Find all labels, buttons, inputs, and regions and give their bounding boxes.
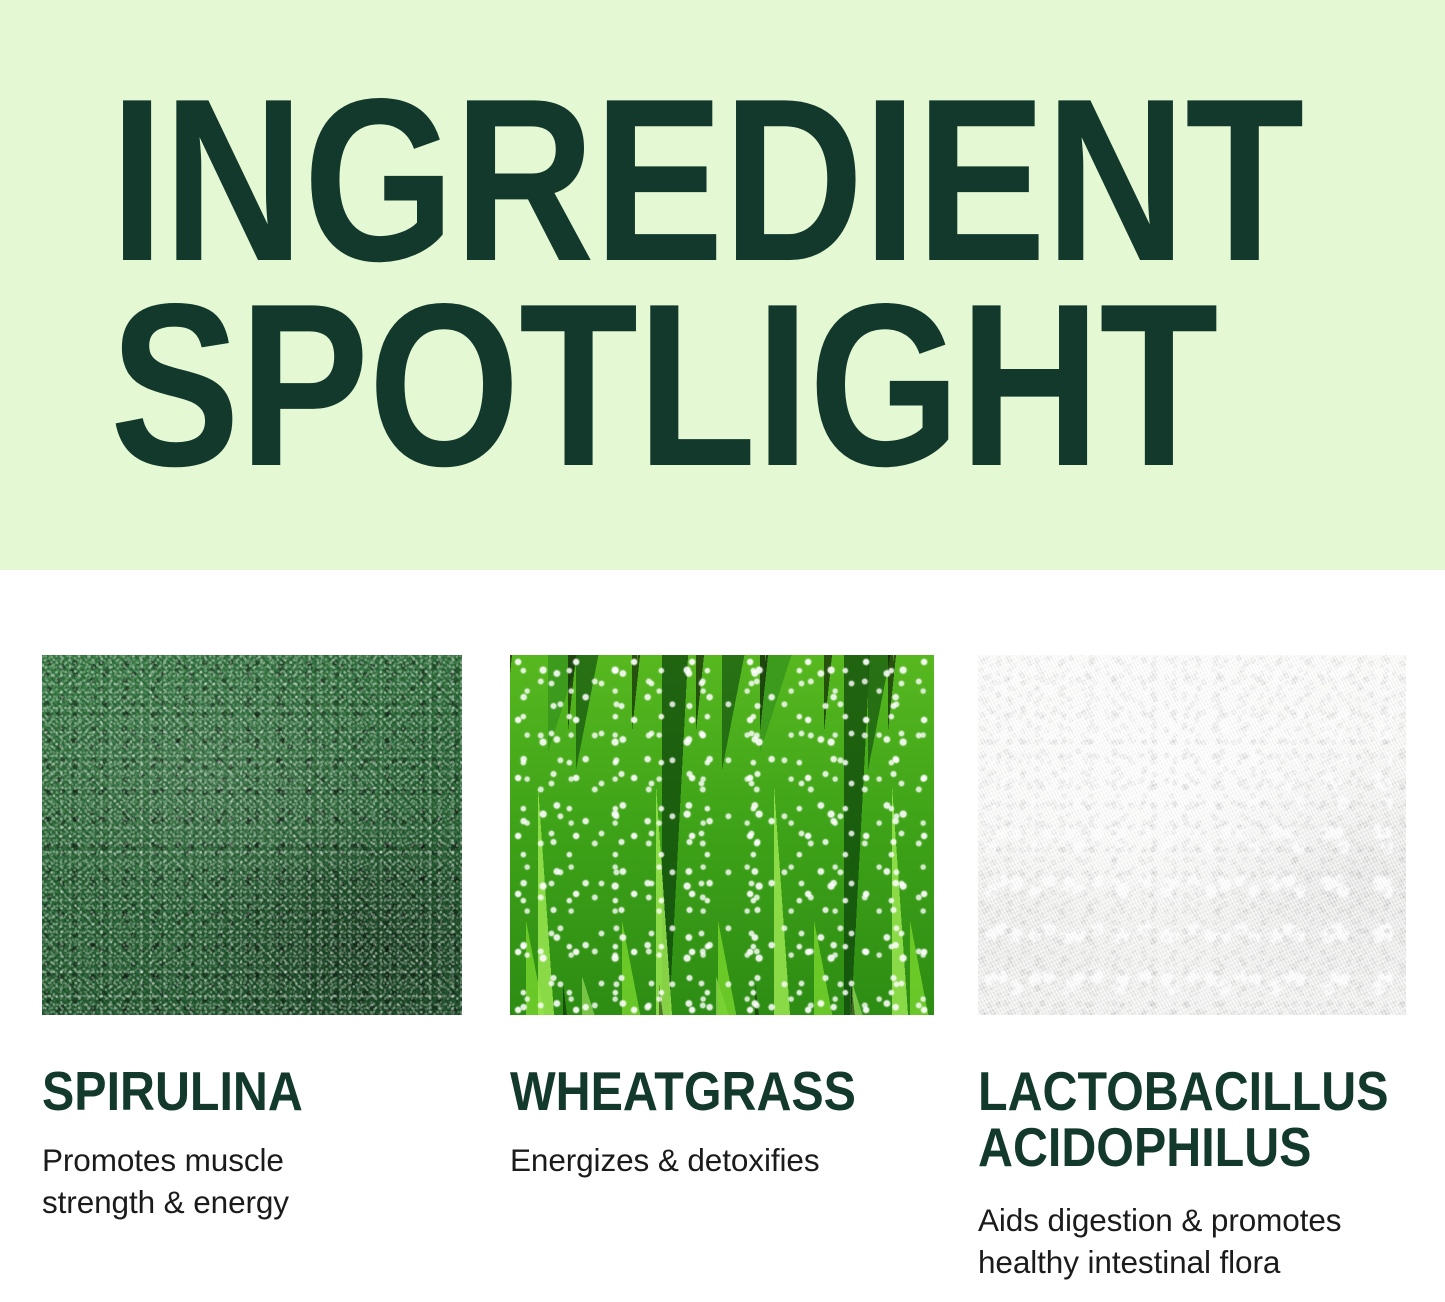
spirulina-texture <box>42 655 462 1015</box>
ingredient-title: WHEATGRASS <box>510 1063 883 1119</box>
wheatgrass-photo <box>510 655 934 1015</box>
ingredient-cards-row: SPIRULINA Promotes muscle strength & ene… <box>0 570 1445 1302</box>
wheatgrass-texture <box>510 655 934 1015</box>
spirulina-powder-photo <box>42 655 462 1015</box>
page-title: INGREDIENT SPOTLIGHT <box>110 78 1303 489</box>
lactobacillus-powder-photo <box>978 655 1406 1015</box>
ingredient-description: Energizes & detoxifies <box>510 1139 934 1181</box>
ingredient-spotlight-page: INGREDIENT SPOTLIGHT SPIRULINA Promotes … <box>0 0 1445 1302</box>
ingredient-card-lactobacillus: LACTOBACILLUS ACIDOPHILUS Aids digestion… <box>978 655 1406 1284</box>
ingredient-card-spirulina: SPIRULINA Promotes muscle strength & ene… <box>42 655 462 1224</box>
ingredient-description: Aids digestion & promotes healthy intest… <box>978 1199 1406 1283</box>
ingredient-card-wheatgrass: WHEATGRASS Energizes & detoxifies <box>510 655 934 1181</box>
powder-texture <box>978 655 1406 1015</box>
ingredient-title: SPIRULINA <box>42 1063 412 1119</box>
hero-banner: INGREDIENT SPOTLIGHT <box>0 0 1445 570</box>
ingredient-description: Promotes muscle strength & energy <box>42 1139 462 1223</box>
ingredient-title: LACTOBACILLUS ACIDOPHILUS <box>978 1063 1355 1175</box>
